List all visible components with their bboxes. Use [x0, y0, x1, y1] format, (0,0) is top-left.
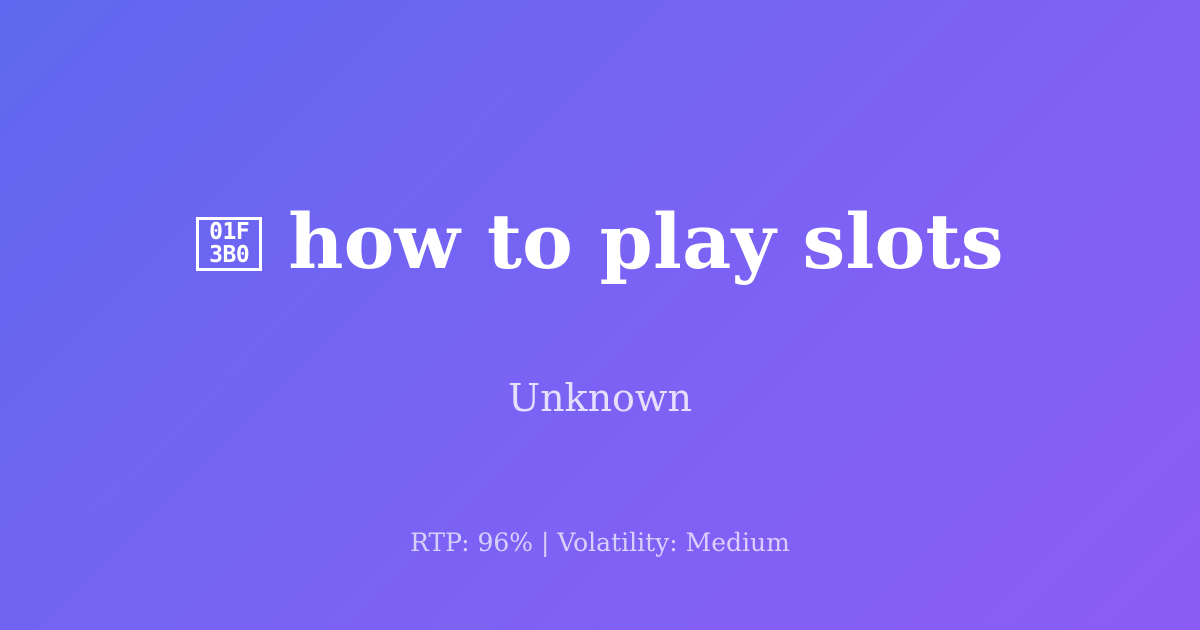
title-row: 01F 3B0 how to play slots — [196, 150, 1004, 334]
page-title: how to play slots — [288, 201, 1004, 283]
card-meta-stats: RTP: 96% | Volatility: Medium — [0, 527, 1200, 558]
card-subtitle: Unknown — [508, 376, 692, 422]
codepoint-top: 01F — [209, 221, 249, 244]
social-share-card: 01F 3B0 how to play slots Unknown RTP: 9… — [0, 0, 1200, 630]
slot-machine-emoji-icon: 01F 3B0 — [196, 217, 262, 271]
codepoint-bottom: 3B0 — [209, 244, 249, 267]
